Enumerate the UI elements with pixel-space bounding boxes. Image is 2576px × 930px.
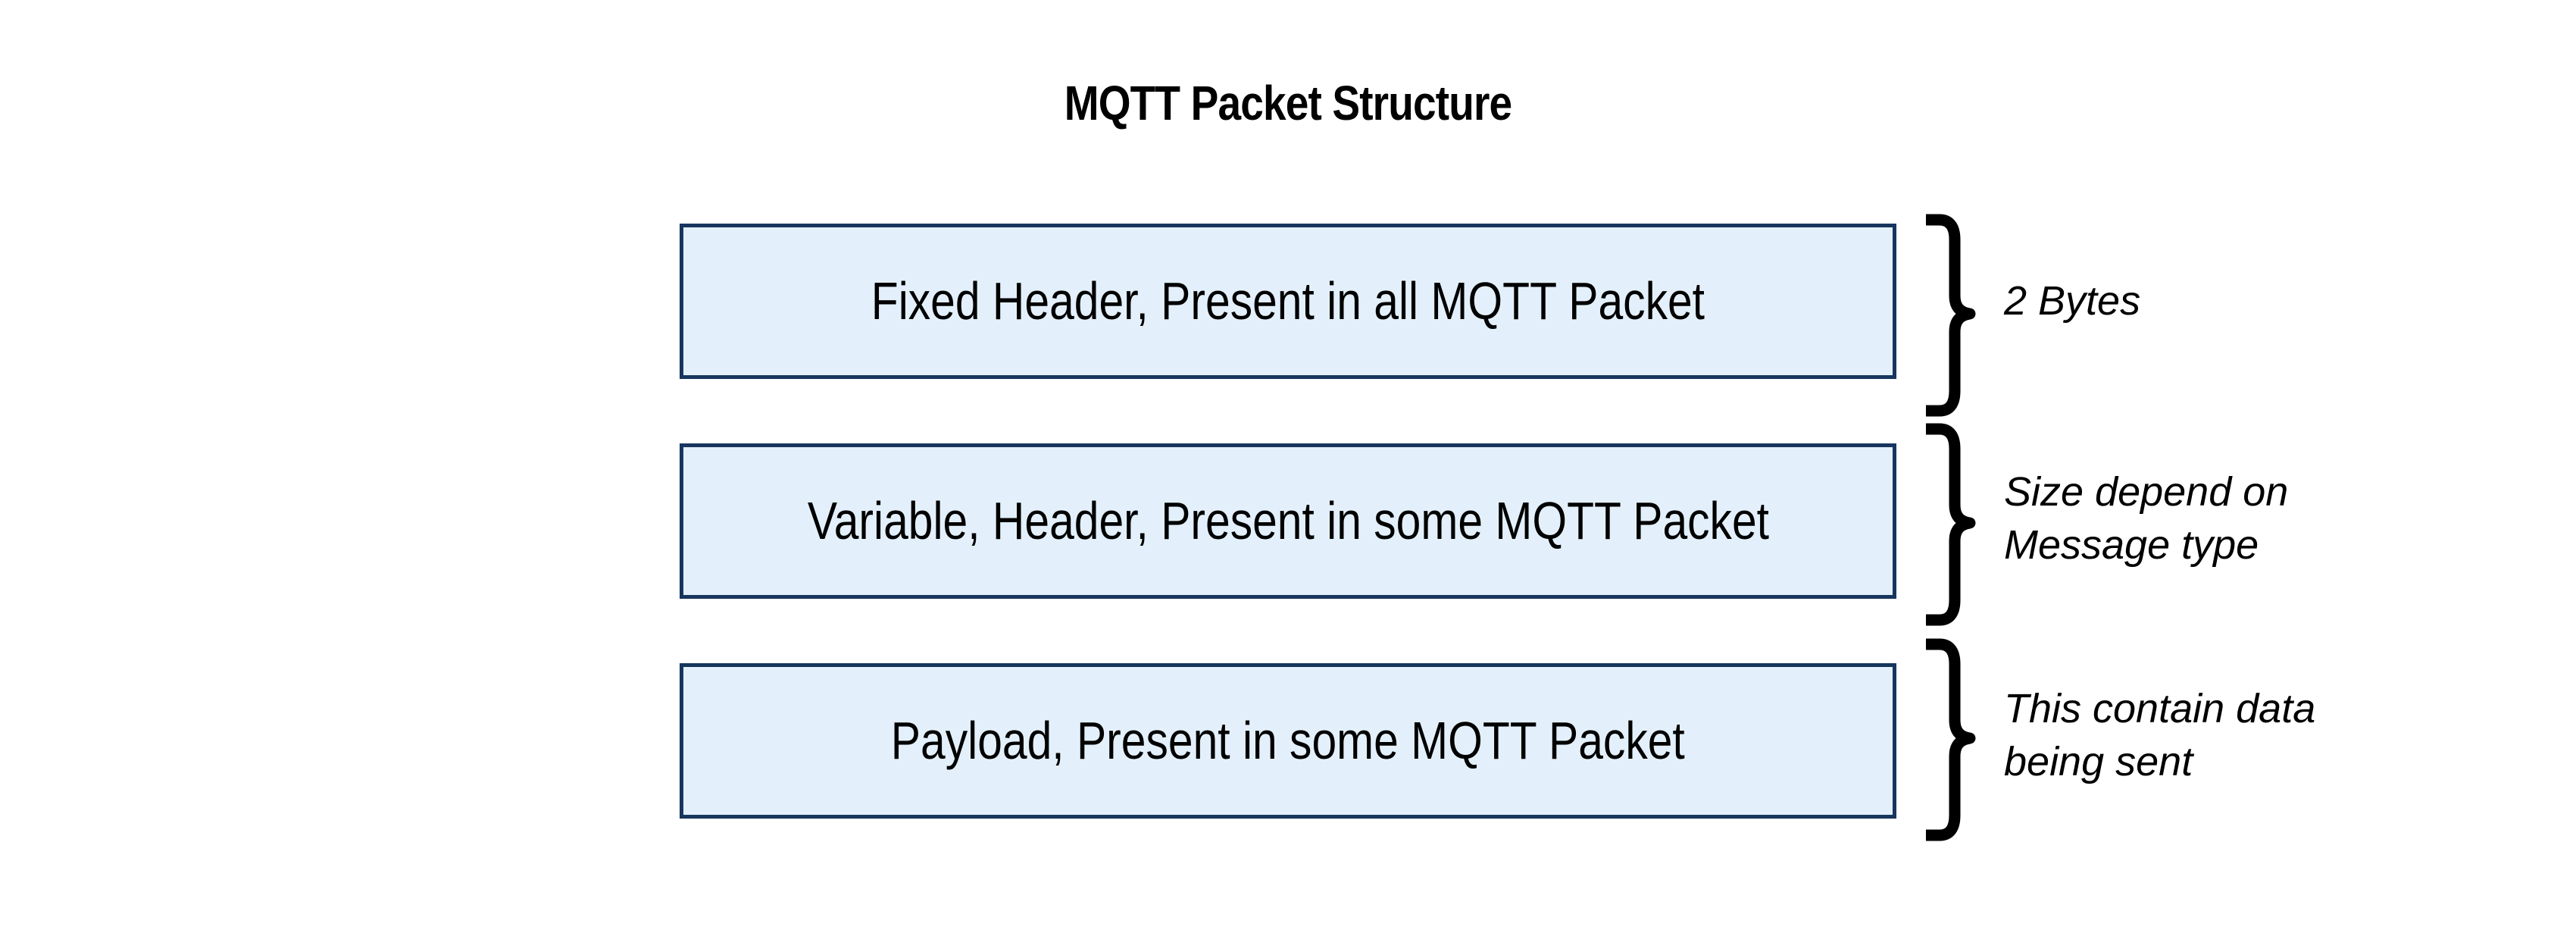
packet-section-box-variable-header: Variable, Header, Present in some MQTT P… — [680, 443, 1896, 599]
packet-section-label: Fixed Header, Present in all MQTT Packet — [871, 274, 1705, 330]
packet-section-annotation: 2 Bytes — [2004, 274, 2534, 327]
diagram-canvas: MQTT Packet Structure Fixed Header, Pres… — [0, 0, 2576, 930]
packet-section-label: Variable, Header, Present in some MQTT P… — [807, 493, 1768, 550]
packet-section-label: Payload, Present in some MQTT Packet — [891, 713, 1685, 769]
right-curly-brace-icon — [1924, 638, 1973, 841]
page-title: MQTT Packet Structure — [180, 79, 2396, 127]
right-curly-brace-icon — [1924, 423, 1973, 626]
packet-section-annotation: Size depend on Message type — [2004, 465, 2534, 571]
packet-section-box-fixed-header: Fixed Header, Present in all MQTT Packet — [680, 224, 1896, 379]
packet-section-annotation: This contain data being sent — [2004, 682, 2534, 788]
right-curly-brace-icon — [1924, 214, 1973, 417]
packet-section-box-payload: Payload, Present in some MQTT Packet — [680, 663, 1896, 819]
